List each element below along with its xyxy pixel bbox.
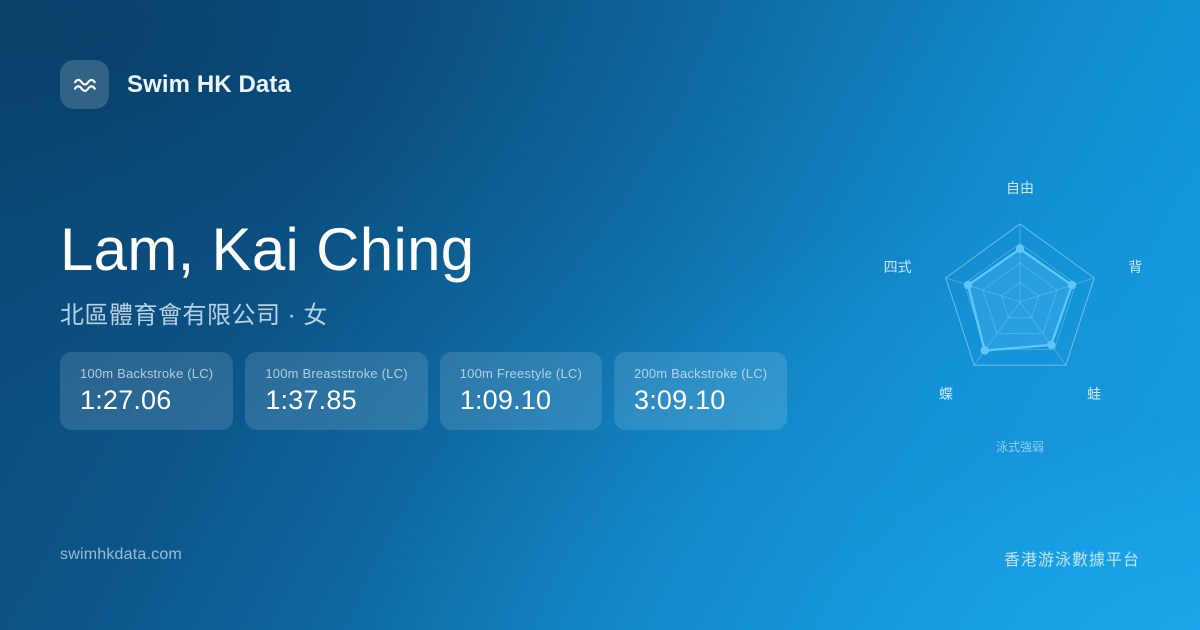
radar-axis-label: 背 [1128, 259, 1142, 275]
stat-value: 1:37.85 [265, 386, 407, 414]
stat-card-list: 100m Backstroke (LC) 1:27.06 100m Breast… [60, 352, 787, 430]
radar-axis-label: 四式 [884, 259, 912, 275]
athlete-header: Lam, Kai Ching 北區體育會有限公司 · 女 [60, 218, 474, 330]
stat-label: 200m Backstroke (LC) [634, 366, 767, 381]
brand-lockup: Swim HK Data [60, 60, 291, 109]
footer-site-url[interactable]: swimhkdata.com [60, 546, 182, 564]
radar-axis-label: 自由 [1006, 180, 1034, 196]
page-title: Lam, Kai Ching [60, 218, 474, 281]
stat-card: 200m Backstroke (LC) 3:09.10 [614, 352, 787, 430]
stat-value: 1:27.06 [80, 386, 213, 414]
radar-data-point [1047, 341, 1055, 349]
radar-series-polygon [968, 249, 1072, 351]
radar-axis-label: 蛙 [1087, 386, 1101, 402]
brand-name: Swim HK Data [127, 71, 291, 99]
stat-value: 1:09.10 [460, 386, 582, 414]
wave-icon [60, 60, 109, 109]
stat-card: 100m Backstroke (LC) 1:27.06 [60, 352, 233, 430]
stat-label: 100m Backstroke (LC) [80, 366, 213, 381]
stat-label: 100m Freestyle (LC) [460, 366, 582, 381]
radar-data-point [981, 346, 989, 354]
stat-label: 100m Breaststroke (LC) [265, 366, 407, 381]
radar-chart: 自由背蛙蝶四式 泳式強弱 [860, 160, 1180, 480]
stat-card: 100m Freestyle (LC) 1:09.10 [440, 352, 602, 430]
stat-value: 3:09.10 [634, 386, 767, 414]
stat-card: 100m Breaststroke (LC) 1:37.85 [245, 352, 427, 430]
radar-data-point [1068, 281, 1076, 289]
social-share-card: Swim HK Data Lam, Kai Ching 北區體育會有限公司 · … [0, 0, 1200, 630]
radar-data-point [1016, 245, 1024, 253]
radar-axis-label: 蝶 [939, 386, 953, 402]
footer-tagline: 香港游泳數據平台 [1004, 546, 1140, 570]
radar-caption: 泳式強弱 [996, 440, 1044, 454]
radar-data-point [964, 281, 972, 289]
athlete-meta: 北區體育會有限公司 · 女 [60, 295, 474, 330]
